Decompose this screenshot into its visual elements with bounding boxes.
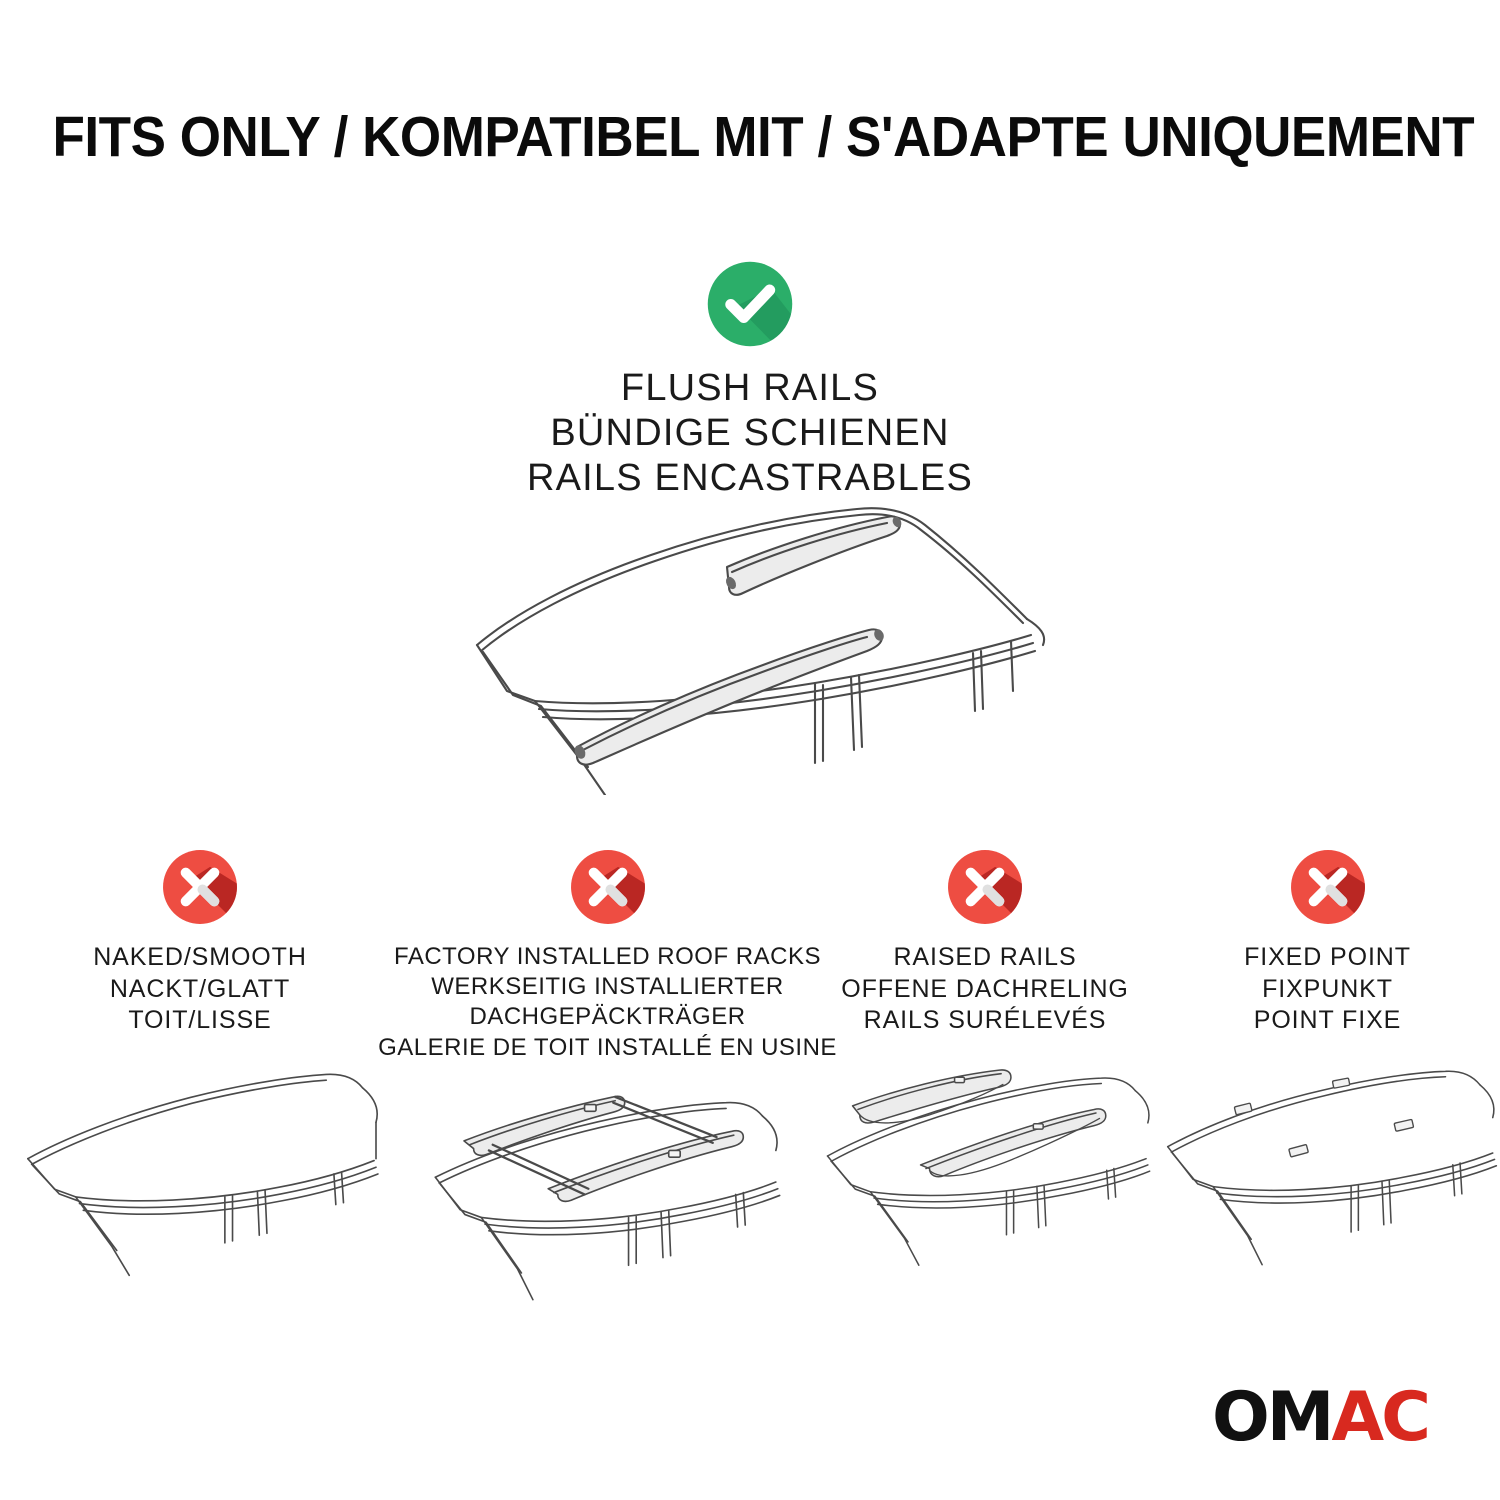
incompatible-caption: FACTORY INSTALLED ROOF RACKS WERKSEITIG …	[378, 942, 837, 1063]
caption-line-de: OFFENE DACHRELING	[841, 974, 1129, 1006]
incompatible-item-naked-smooth: NAKED/SMOOTH NACKT/GLATT TOIT/LISSE	[0, 845, 400, 1315]
caption-line-de-1: WERKSEITIG INSTALLIERTER	[378, 972, 837, 1002]
omac-logo: OMAC	[1212, 1384, 1428, 1452]
car-roof-flush-rails-illustration	[455, 495, 1055, 795]
incompatible-caption: NAKED/SMOOTH NACKT/GLATT TOIT/LISSE	[93, 942, 307, 1037]
omac-logo-dark: OM	[1212, 1378, 1331, 1457]
incompatible-item-raised-rails: RAISED RAILS OFFENE DACHRELING RAILS SUR…	[815, 845, 1155, 1315]
raised-rails-roof-svg	[815, 1063, 1155, 1283]
cross-circle-icon	[158, 845, 242, 929]
compatible-caption: FLUSH RAILS BÜNDIGE SCHIENEN RAILS ENCAS…	[0, 366, 1500, 500]
compatible-line-en: FLUSH RAILS	[0, 366, 1500, 411]
car-roof-naked-smooth-illustration	[0, 1063, 400, 1283]
page-title: FITS ONLY / KOMPATIBEL MIT / S'ADAPTE UN…	[53, 104, 1448, 170]
incompatible-item-fixed-point: FIXED POINT FIXPUNKT POINT FIXE	[1155, 845, 1500, 1315]
check-circle-icon-svg	[702, 256, 798, 352]
cross-circle-icon-svg	[158, 845, 242, 929]
caption-line-fr: POINT FIXE	[1244, 1005, 1411, 1037]
compatible-line-fr: RAILS ENCASTRABLES	[0, 456, 1500, 501]
cross-circle-icon-svg	[1286, 845, 1370, 929]
car-roof-raised-rails-illustration	[815, 1063, 1155, 1283]
compatible-line-de: BÜNDIGE SCHIENEN	[0, 411, 1500, 456]
naked-roof-svg	[0, 1063, 400, 1283]
car-roof-fixed-point-illustration	[1155, 1063, 1500, 1283]
caption-line-de-2: DACHGEPÄCKTRÄGER	[378, 1002, 837, 1032]
flush-rails-roof-svg	[455, 495, 1055, 795]
incompatible-section: NAKED/SMOOTH NACKT/GLATT TOIT/LISSE	[0, 845, 1500, 1315]
fixed-point-roof-svg	[1155, 1063, 1500, 1283]
fitment-infographic: FITS ONLY / KOMPATIBEL MIT / S'ADAPTE UN…	[0, 0, 1500, 1500]
cross-circle-icon	[566, 845, 650, 929]
compatible-section: FLUSH RAILS BÜNDIGE SCHIENEN RAILS ENCAS…	[0, 256, 1500, 500]
cross-circle-icon-svg	[943, 845, 1027, 929]
incompatible-item-factory-roof-racks: FACTORY INSTALLED ROOF RACKS WERKSEITIG …	[400, 845, 815, 1315]
caption-line-fr: GALERIE DE TOIT INSTALLÉ EN USINE	[378, 1033, 837, 1063]
car-roof-factory-roof-racks-illustration	[400, 1095, 815, 1315]
caption-line-fr: RAILS SURÉLEVÉS	[841, 1005, 1129, 1037]
incompatible-caption: FIXED POINT FIXPUNKT POINT FIXE	[1244, 942, 1411, 1037]
cross-circle-icon	[1286, 845, 1370, 929]
caption-line-en: NAKED/SMOOTH	[93, 942, 307, 974]
factory-racks-roof-svg	[400, 1095, 815, 1315]
incompatible-caption: RAISED RAILS OFFENE DACHRELING RAILS SUR…	[841, 942, 1129, 1037]
caption-line-de: FIXPUNKT	[1244, 974, 1411, 1006]
check-circle-icon	[702, 256, 798, 352]
omac-logo-red: AC	[1331, 1378, 1428, 1457]
caption-line-en: FACTORY INSTALLED ROOF RACKS	[378, 942, 837, 972]
caption-line-en: RAISED RAILS	[841, 942, 1129, 974]
cross-circle-icon-svg	[566, 845, 650, 929]
cross-circle-icon	[943, 845, 1027, 929]
caption-line-fr: TOIT/LISSE	[93, 1005, 307, 1037]
caption-line-en: FIXED POINT	[1244, 942, 1411, 974]
caption-line-de: NACKT/GLATT	[93, 974, 307, 1006]
